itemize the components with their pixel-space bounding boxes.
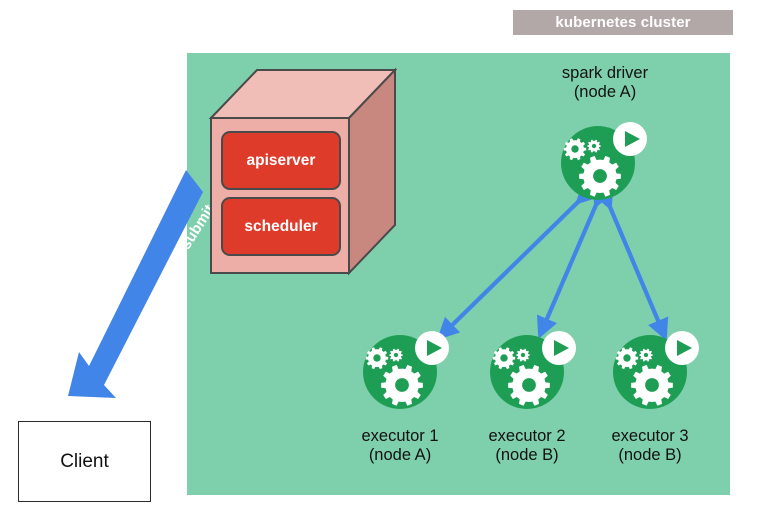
executor-1-label: executor 1 (node A)	[330, 427, 470, 465]
executor-2-label: executor 2 (node B)	[457, 427, 597, 465]
executor-node: (node A)	[330, 446, 470, 465]
executor-name: executor 2	[457, 427, 597, 446]
spark-driver-label: spark driver (node A)	[525, 64, 685, 102]
executor-3-node-icon[interactable]	[613, 331, 699, 409]
executor-1-node-icon[interactable]	[363, 331, 449, 409]
executor-name: executor 1	[330, 427, 470, 446]
executor-name: executor 3	[580, 427, 720, 446]
driver-name: spark driver	[525, 64, 685, 83]
driver-node: (node A)	[525, 83, 685, 102]
executor-node: (node B)	[457, 446, 597, 465]
diagram-canvas: kubernetes cluster spark-submit Client	[0, 0, 761, 516]
executor-2-node-icon[interactable]	[490, 331, 576, 409]
executor-3-label: executor 3 (node B)	[580, 427, 720, 465]
executor-node: (node B)	[580, 446, 720, 465]
spark-driver-node-icon[interactable]	[561, 122, 647, 200]
